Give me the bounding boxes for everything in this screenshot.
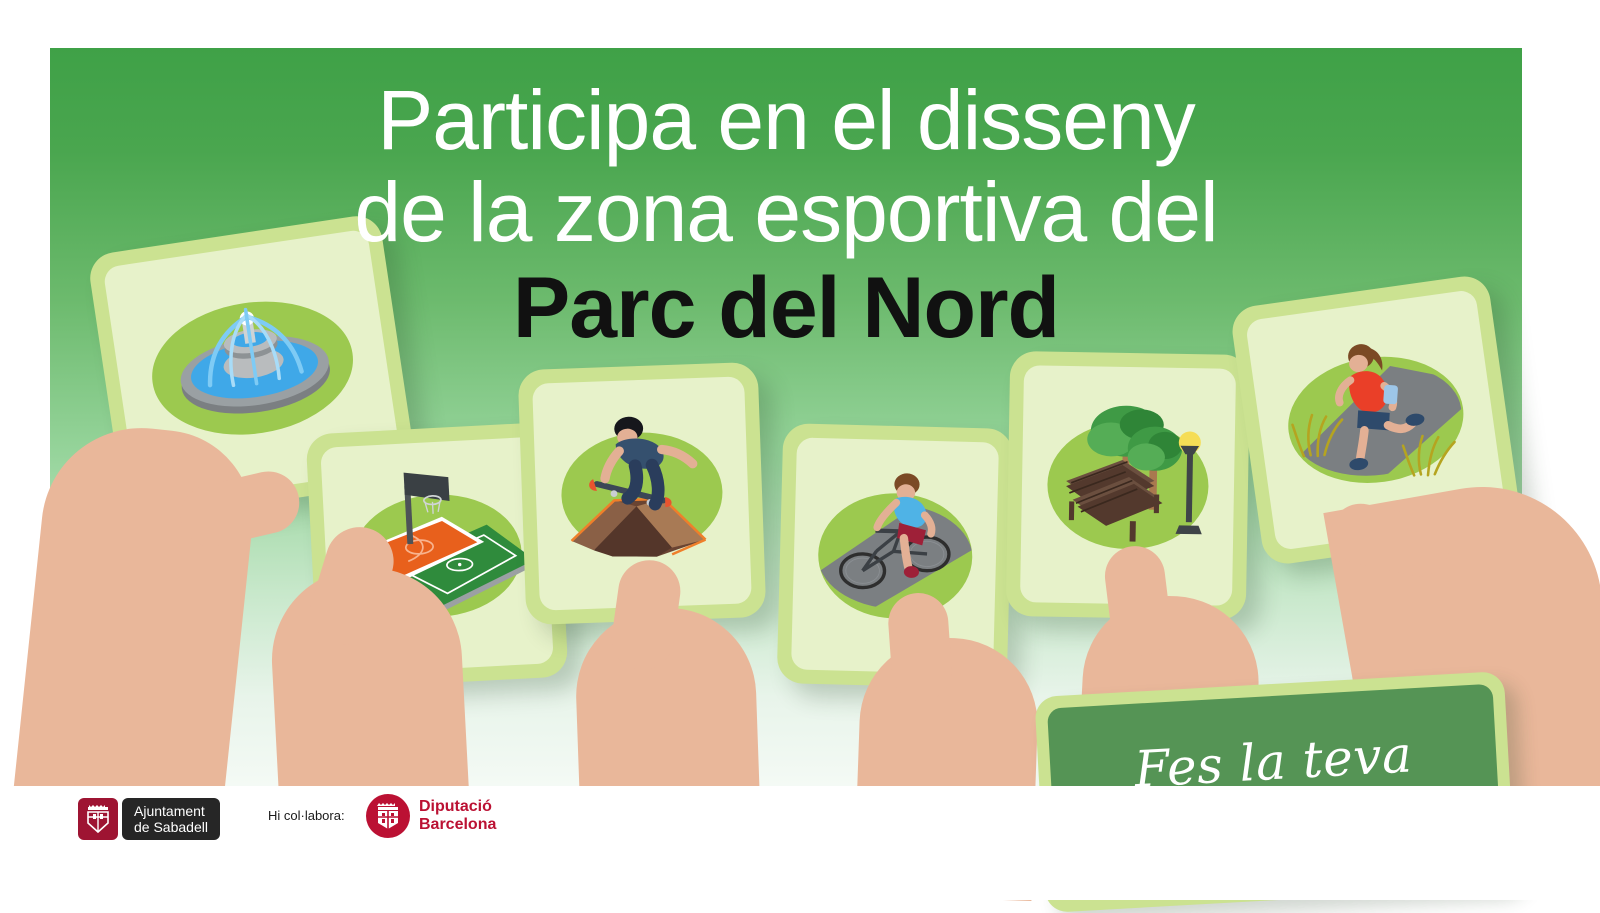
hand-fourth-finger — [886, 591, 953, 703]
sabadell-line-1: Ajuntament — [134, 803, 208, 819]
footer-bar: Ajuntament de Sabadell Hi col·labora: Di… — [0, 786, 1600, 900]
sabadell-shield-icon — [78, 798, 118, 840]
diputacio-crest-icon — [366, 794, 410, 838]
diputacio-shield-icon — [374, 801, 402, 831]
sabadell-crest-icon — [85, 804, 111, 834]
diputacio-line-1: Diputació — [419, 798, 496, 816]
banner-background: Participa en el disseny de la zona espor… — [50, 48, 1522, 786]
logo-ajuntament-sabadell[interactable]: Ajuntament de Sabadell — [78, 798, 220, 840]
logo-diputacio-barcelona[interactable]: Diputació Barcelona — [366, 794, 496, 838]
sabadell-wordmark: Ajuntament de Sabadell — [122, 798, 220, 840]
diputacio-wordmark: Diputació Barcelona — [419, 798, 496, 834]
headline-line-1: Participa en el disseny — [50, 74, 1522, 166]
sabadell-line-2: de Sabadell — [134, 819, 208, 835]
diputacio-line-2: Barcelona — [419, 816, 496, 834]
poster-stage: Participa en el disseny de la zona espor… — [0, 0, 1600, 900]
collaborator-label: Hi col·labora: — [268, 808, 345, 823]
